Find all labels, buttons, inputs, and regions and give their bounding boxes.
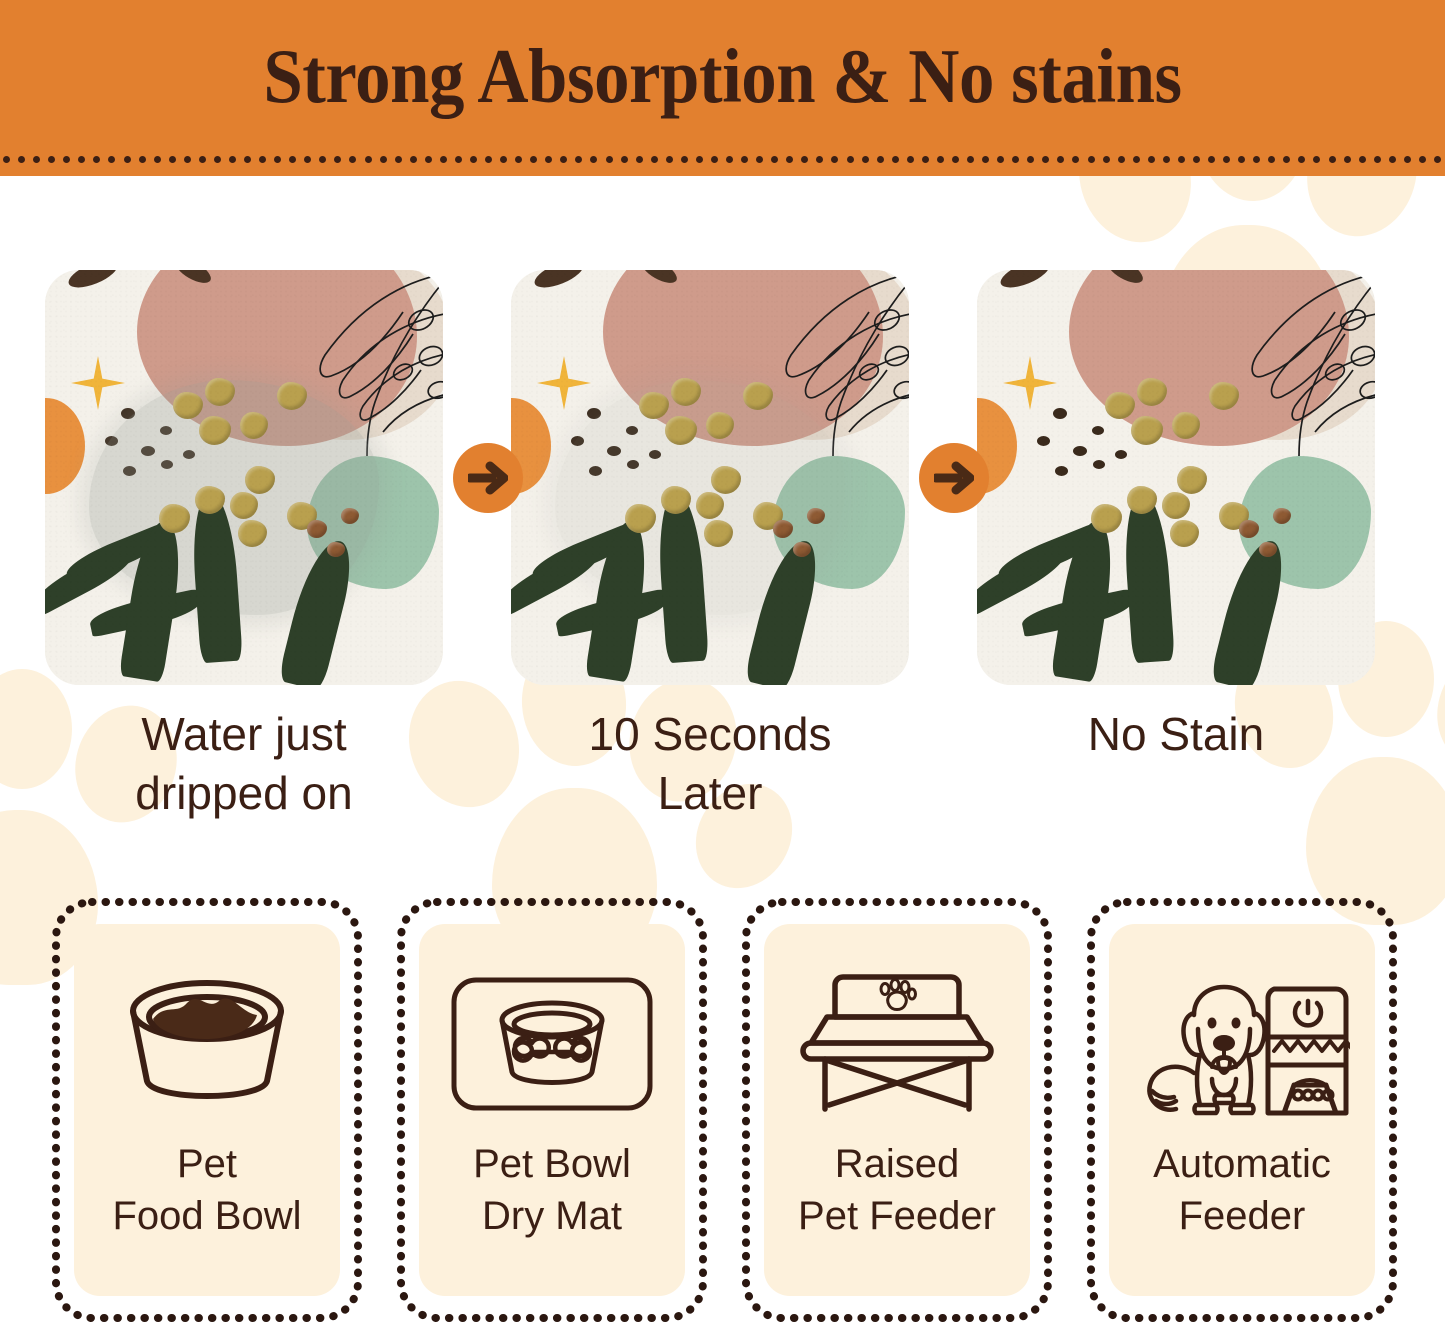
card-label-line: Food Bowl	[113, 1190, 302, 1242]
demo-caption-step-2: 10 Seconds Later	[511, 705, 909, 823]
divider-dot	[816, 156, 823, 163]
divider-dot	[1253, 156, 1260, 163]
divider-dot	[289, 156, 296, 163]
raised-pet-feeder-icon	[797, 960, 997, 1128]
divider-dot	[1178, 156, 1185, 163]
divider-dot	[470, 156, 477, 163]
divider-dot	[606, 156, 613, 163]
divider-dot	[590, 156, 597, 163]
demo-photo-step-2	[511, 270, 909, 685]
demo-caption-step-3: No Stain	[977, 705, 1375, 764]
divider-dot	[636, 156, 643, 163]
star-motif	[1003, 356, 1057, 410]
divider-dot	[1133, 156, 1140, 163]
page-title: Strong Absorption & No stains	[58, 32, 1387, 121]
divider-dot	[982, 156, 989, 163]
demo-photo-step-1	[45, 270, 443, 685]
divider-dot	[184, 156, 191, 163]
card-label-line: Raised	[798, 1138, 996, 1190]
divider-dot	[485, 156, 492, 163]
divider-dot	[1374, 156, 1381, 163]
star-motif	[71, 356, 125, 410]
use-case-card-raised-pet-feeder[interactable]: Raised Pet Feeder	[742, 898, 1052, 1322]
divider-dot	[907, 156, 914, 163]
divider-dot	[319, 156, 326, 163]
divider-dot	[862, 156, 869, 163]
divider-dot	[1072, 156, 1079, 163]
card-label: Raised Pet Feeder	[798, 1138, 996, 1242]
caption-line: Later	[511, 764, 909, 823]
divider-dot	[1313, 156, 1320, 163]
divider-dot	[560, 156, 567, 163]
divider-dot	[124, 156, 131, 163]
card-label-line: Pet Bowl	[473, 1138, 631, 1190]
divider-dot	[741, 156, 748, 163]
divider-dot	[756, 156, 763, 163]
divider-dot	[922, 156, 929, 163]
divider-dot	[63, 156, 70, 163]
card-panel: Raised Pet Feeder	[764, 924, 1030, 1296]
paw-watermark	[1250, 645, 1445, 925]
monstera-leaf-icon	[1139, 270, 1375, 460]
divider-dot	[33, 156, 40, 163]
divider-dot	[1118, 156, 1125, 163]
divider-dot	[937, 156, 944, 163]
divider-dot	[1223, 156, 1230, 163]
header-dotted-divider	[0, 156, 1445, 166]
divider-dot	[967, 156, 974, 163]
divider-dot	[78, 156, 85, 163]
water-spot	[89, 380, 379, 615]
card-label: Automatic Feeder	[1153, 1138, 1331, 1242]
divider-dot	[214, 156, 221, 163]
divider-dot	[139, 156, 146, 163]
divider-dot	[1329, 156, 1336, 163]
divider-dot	[1042, 156, 1049, 163]
divider-dot	[786, 156, 793, 163]
divider-dot	[1419, 156, 1426, 163]
monstera-leaf-icon	[673, 270, 909, 460]
divider-dot	[93, 156, 100, 163]
caption-line: Water just	[45, 705, 443, 764]
divider-dot	[771, 156, 778, 163]
divider-dot	[1389, 156, 1396, 163]
divider-dot	[666, 156, 673, 163]
divider-dot	[410, 156, 417, 163]
divider-dot	[108, 156, 115, 163]
use-case-card-pet-bowl-dry-mat[interactable]: Pet Bowl Dry Mat	[397, 898, 707, 1322]
divider-dot	[1193, 156, 1200, 163]
divider-dot	[1344, 156, 1351, 163]
divider-dot	[274, 156, 281, 163]
card-panel: Pet Food Bowl	[74, 924, 340, 1296]
dog-icon	[1149, 987, 1264, 1113]
divider-dot	[349, 156, 356, 163]
card-label: Pet Food Bowl	[113, 1138, 302, 1242]
divider-dot	[18, 156, 25, 163]
caption-line: 10 Seconds	[511, 705, 909, 764]
divider-dot	[952, 156, 959, 163]
card-panel: Automatic Feeder	[1109, 924, 1375, 1296]
divider-dot	[681, 156, 688, 163]
divider-dot	[1298, 156, 1305, 163]
divider-dot	[440, 156, 447, 163]
divider-dot	[515, 156, 522, 163]
use-case-card-pet-food-bowl[interactable]: Pet Food Bowl	[52, 898, 362, 1322]
absorption-demo-row	[0, 270, 1445, 685]
star-motif	[537, 356, 591, 410]
divider-dot	[1027, 156, 1034, 163]
divider-dot	[696, 156, 703, 163]
arrow-right-icon	[919, 443, 989, 513]
divider-dot	[1283, 156, 1290, 163]
divider-dot	[1404, 156, 1411, 163]
divider-dot	[1057, 156, 1064, 163]
divider-dot	[154, 156, 161, 163]
divider-dot	[530, 156, 537, 163]
header-banner: Strong Absorption & No stains	[0, 0, 1445, 176]
divider-dot	[711, 156, 718, 163]
divider-dot	[997, 156, 1004, 163]
divider-dot	[801, 156, 808, 163]
divider-dot	[1434, 156, 1441, 163]
divider-dot	[229, 156, 236, 163]
automatic-feeder-icon	[1134, 960, 1350, 1128]
divider-dot	[877, 156, 884, 163]
divider-dot	[169, 156, 176, 163]
divider-dot	[48, 156, 55, 163]
divider-dot	[365, 156, 372, 163]
use-case-card-automatic-feeder[interactable]: Automatic Feeder	[1087, 898, 1397, 1322]
divider-dot	[334, 156, 341, 163]
card-label-line: Automatic	[1153, 1138, 1331, 1190]
card-label-line: Dry Mat	[473, 1190, 631, 1242]
divider-dot	[575, 156, 582, 163]
divider-dot	[304, 156, 311, 163]
divider-dot	[1359, 156, 1366, 163]
card-label-line: Pet	[113, 1138, 302, 1190]
divider-dot	[621, 156, 628, 163]
feeder-machine-icon	[1268, 989, 1350, 1113]
divider-dot	[395, 156, 402, 163]
water-spot	[555, 380, 845, 615]
divider-dot	[1103, 156, 1110, 163]
divider-dot	[3, 156, 10, 163]
demo-photo-step-3	[977, 270, 1375, 685]
divider-dot	[259, 156, 266, 163]
divider-dot	[831, 156, 838, 163]
caption-line: dripped on	[45, 764, 443, 823]
pet-mat-artwork	[511, 270, 909, 685]
divider-dot	[892, 156, 899, 163]
divider-dot	[847, 156, 854, 163]
arrow-right-icon	[453, 443, 523, 513]
divider-dot	[455, 156, 462, 163]
divider-dot	[1088, 156, 1095, 163]
caption-line: No Stain	[977, 705, 1375, 764]
card-label-line: Feeder	[1153, 1190, 1331, 1242]
divider-dot	[380, 156, 387, 163]
use-case-cards: Pet Food Bowl	[0, 898, 1445, 1328]
divider-dot	[425, 156, 432, 163]
divider-dot	[244, 156, 251, 163]
divider-dot	[1148, 156, 1155, 163]
card-panel: Pet Bowl Dry Mat	[419, 924, 685, 1296]
divider-dot	[1238, 156, 1245, 163]
divider-dot	[199, 156, 206, 163]
card-label-line: Pet Feeder	[798, 1190, 996, 1242]
divider-dot	[500, 156, 507, 163]
card-label: Pet Bowl Dry Mat	[473, 1138, 631, 1242]
divider-dot	[726, 156, 733, 163]
pet-bowl-dry-mat-icon	[450, 960, 654, 1128]
monstera-leaf-icon	[207, 270, 443, 460]
divider-dot	[1208, 156, 1215, 163]
divider-dot	[651, 156, 658, 163]
divider-dot	[545, 156, 552, 163]
pet-mat-artwork	[45, 270, 443, 685]
divider-dot	[1012, 156, 1019, 163]
demo-caption-step-1: Water just dripped on	[45, 705, 443, 823]
divider-dot	[1163, 156, 1170, 163]
pet-food-bowl-icon	[107, 960, 307, 1128]
pet-mat-artwork	[977, 270, 1375, 685]
divider-dot	[1268, 156, 1275, 163]
